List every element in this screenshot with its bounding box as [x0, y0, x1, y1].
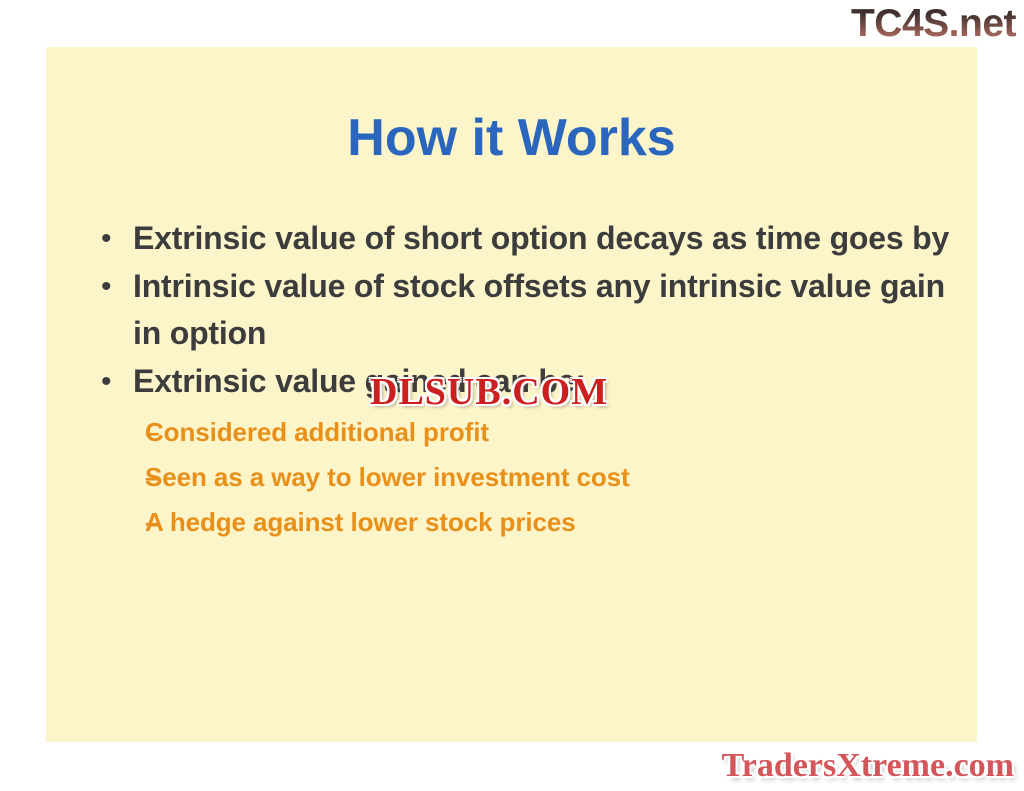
bullet-marker-icon: •: [95, 263, 133, 310]
slide-screenshot: { "header": { "brand_logo": "TC4S.net" }…: [0, 0, 1024, 791]
brand-logo: TC4S.net: [851, 2, 1016, 46]
bullet-text: Intrinsic value of stock offsets any int…: [133, 263, 955, 357]
bullet-marker-icon: •: [95, 358, 133, 405]
sub-bullet-marker-icon: –: [95, 410, 145, 455]
footer-watermark: TradersXtreme.com: [722, 747, 1014, 785]
sub-bullet-item: – A hedge against lower stock prices: [95, 500, 955, 545]
sub-bullet-text: A hedge against lower stock prices: [145, 500, 955, 545]
sub-bullet-text: Considered additional profit: [145, 410, 955, 455]
bullet-item: • Intrinsic value of stock offsets any i…: [95, 263, 955, 357]
sub-bullet-list: – Considered additional profit – Seen as…: [95, 410, 955, 545]
sub-bullet-marker-icon: –: [95, 500, 145, 545]
bullet-text: Extrinsic value of short option decays a…: [133, 215, 955, 262]
slide-title: How it Works: [46, 109, 977, 167]
sub-bullet-item: – Seen as a way to lower investment cost: [95, 455, 955, 500]
sub-bullet-text: Seen as a way to lower investment cost: [145, 455, 955, 500]
sub-bullet-item: – Considered additional profit: [95, 410, 955, 455]
sub-bullet-marker-icon: –: [95, 455, 145, 500]
bullet-item: • Extrinsic value of short option decays…: [95, 215, 955, 262]
overlay-watermark: DLSUB.COM: [370, 372, 608, 412]
bullet-marker-icon: •: [95, 215, 133, 262]
